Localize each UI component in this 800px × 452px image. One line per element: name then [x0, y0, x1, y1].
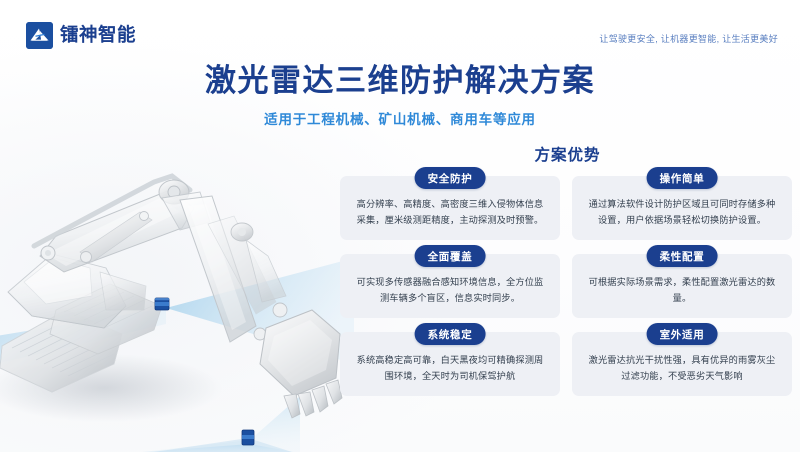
advantage-card[interactable]: 系统稳定 系统高稳定高可靠，白天黑夜均可精确探测周围环境，全天时为司机保驾护航 — [340, 332, 560, 396]
advantage-card[interactable]: 柔性配置 可根据实际场景需求，柔性配置激光雷达的数量。 — [572, 254, 792, 318]
brand-tagline: 让驾驶更安全, 让机器更智能, 让生活更美好 — [599, 32, 778, 45]
lidar-sensor-boom — [155, 298, 169, 310]
page-title: 激光雷达三维防护解决方案 — [0, 63, 800, 99]
advantage-badge: 全面覆盖 — [415, 245, 486, 267]
advantage-text: 通过算法软件设计防护区域且可同时存储多种设置，用户依据场景轻松切换防护设置。 — [584, 196, 780, 228]
page-header: 镭神智能 让驾驶更安全, 让机器更智能, 让生活更美好 — [0, 0, 800, 58]
advantage-card[interactable]: 操作简单 通过算法软件设计防护区域且可同时存储多种设置，用户依据场景轻松切换防护… — [572, 176, 792, 240]
slide-canvas: 镭神智能 让驾驶更安全, 让机器更智能, 让生活更美好 激光雷达三维防护解决方案… — [0, 0, 800, 452]
advantages-grid: 安全防护 高分辨率、高精度、高密度三维入侵物体信息采集，厘米级测距精度，主动探测… — [340, 176, 792, 396]
advantages-heading: 方案优势 — [340, 143, 795, 165]
excavator-bucket — [260, 310, 342, 418]
advantage-card[interactable]: 全面覆盖 可实现多传感器融合感知环境信息，全方位监测车辆多个盲区，信息实时同步。 — [340, 254, 560, 318]
advantage-card[interactable]: 安全防护 高分辨率、高精度、高密度三维入侵物体信息采集，厘米级测距精度，主动探测… — [340, 176, 560, 240]
advantage-badge: 柔性配置 — [647, 245, 718, 267]
brand-name: 镭神智能 — [60, 26, 136, 45]
leishen-mountain-mark-icon — [26, 22, 53, 49]
advantage-card[interactable]: 室外适用 激光雷达抗光干扰性强，具有优异的雨雾灰尘过滤功能，不受恶劣天气影响 — [572, 332, 792, 396]
advantage-text: 可实现多传感器融合感知环境信息，全方位监测车辆多个盲区，信息实时同步。 — [352, 274, 548, 306]
lidar-sensor-bucket — [242, 430, 254, 445]
advantage-badge: 安全防护 — [415, 167, 486, 189]
advantage-badge: 室外适用 — [647, 323, 718, 345]
advantage-badge: 操作简单 — [647, 167, 718, 189]
advantage-text: 激光雷达抗光干扰性强，具有优异的雨雾灰尘过滤功能，不受恶劣天气影响 — [584, 352, 780, 384]
advantage-text: 高分辨率、高精度、高密度三维入侵物体信息采集，厘米级测距精度，主动探测及时预警。 — [352, 196, 548, 228]
brand-logo[interactable]: 镭神智能 — [26, 22, 136, 49]
advantage-text: 可根据实际场景需求，柔性配置激光雷达的数量。 — [584, 274, 780, 306]
advantage-badge: 系统稳定 — [415, 323, 486, 345]
advantage-text: 系统高稳定高可靠，白天黑夜均可精确探测周围环境，全天时为司机保驾护航 — [352, 352, 548, 384]
excavator-lidar-illustration — [0, 96, 354, 452]
